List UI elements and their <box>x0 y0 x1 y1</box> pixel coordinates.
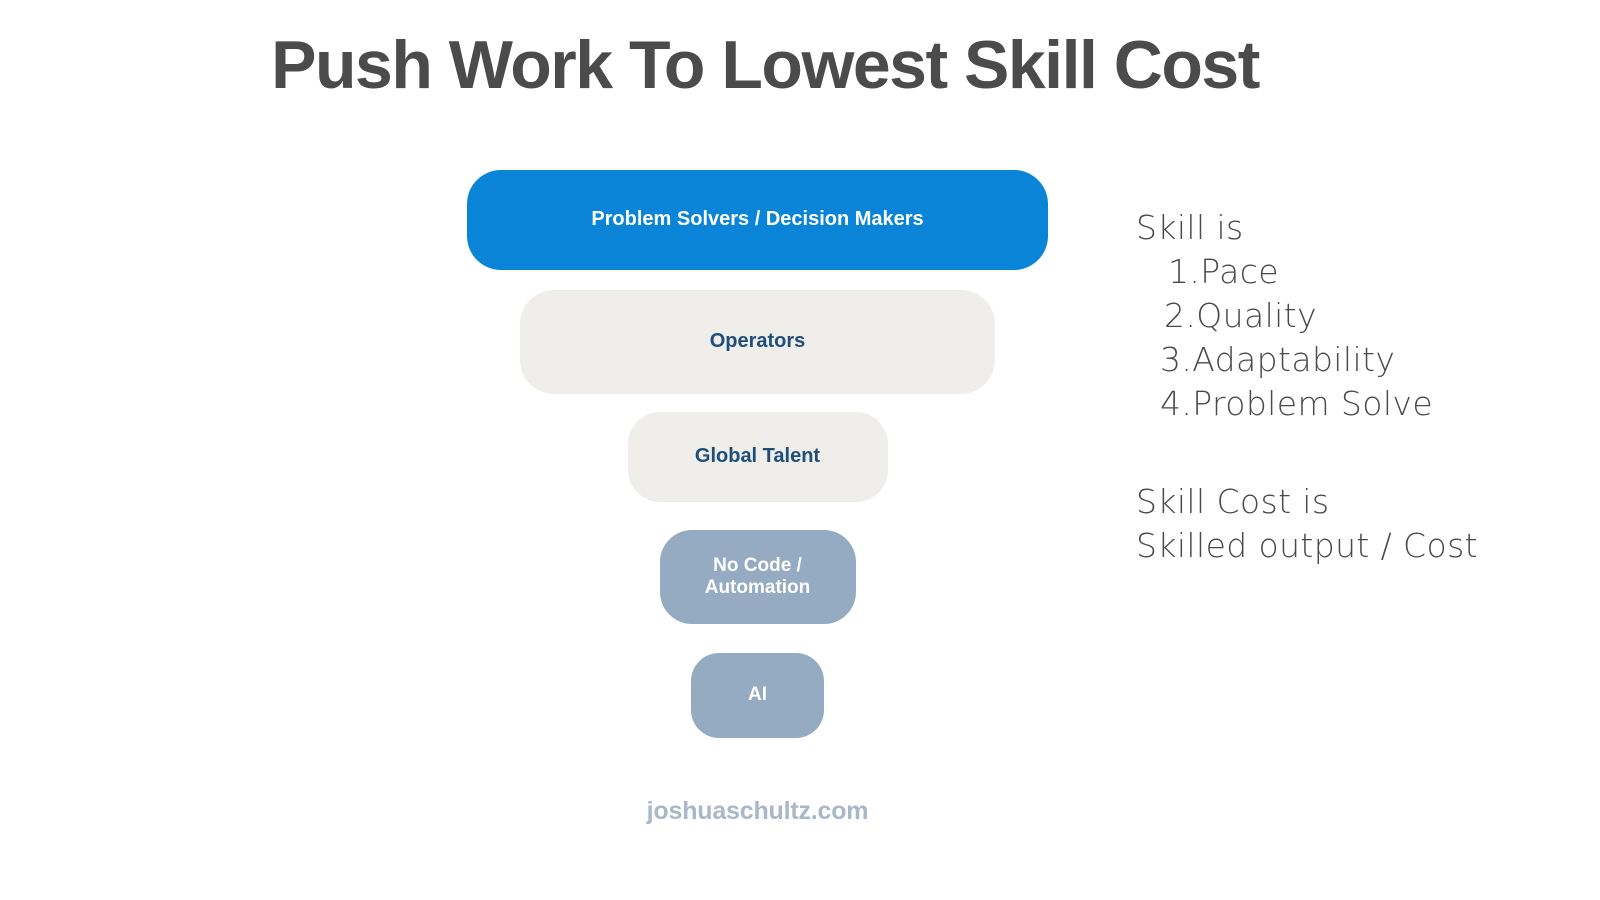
skill-cost-block: Skill Cost is Skilled output / Cost <box>1136 480 1556 568</box>
annotation-notes: Skill is 1.Pace 2.Quality 3.Adaptability… <box>1136 206 1556 568</box>
funnel-stage-label: No Code / Automation <box>705 555 811 600</box>
funnel-stage-label: Global Talent <box>695 445 820 469</box>
skill-cost-heading: Skill Cost is <box>1136 480 1556 524</box>
slide-canvas: Push Work To Lowest Skill Cost Problem S… <box>0 0 1600 900</box>
funnel-stage-label: AI <box>748 684 767 706</box>
funnel-stage-ai[interactable]: AI <box>691 653 824 738</box>
skill-heading: Skill is <box>1136 206 1556 250</box>
notes-spacer <box>1136 426 1556 480</box>
funnel-stage-label: Operators <box>710 330 806 354</box>
skill-definition-block: Skill is 1.Pace 2.Quality 3.Adaptability… <box>1136 206 1556 426</box>
skill-item-3: 3.Adaptability <box>1136 338 1556 382</box>
page-title: Push Work To Lowest Skill Cost <box>0 28 1530 103</box>
skill-item-1: 1.Pace <box>1136 250 1556 294</box>
funnel-gap <box>0 624 1515 653</box>
skill-item-4: 4.Problem Solve <box>1136 382 1556 426</box>
funnel-stage-global-talent[interactable]: Global Talent <box>628 412 888 502</box>
funnel-row: AI <box>0 653 1515 738</box>
skill-item-2: 2.Quality <box>1136 294 1556 338</box>
funnel-stage-operators[interactable]: Operators <box>520 290 995 394</box>
footer-website[interactable]: joshuaschultz.com <box>0 797 1515 826</box>
funnel-stage-problem-solvers[interactable]: Problem Solvers / Decision Makers <box>467 170 1048 270</box>
funnel-stage-no-code-automation[interactable]: No Code / Automation <box>660 530 856 624</box>
skill-cost-formula: Skilled output / Cost <box>1136 524 1556 568</box>
funnel-stage-label: Problem Solvers / Decision Makers <box>591 208 923 232</box>
